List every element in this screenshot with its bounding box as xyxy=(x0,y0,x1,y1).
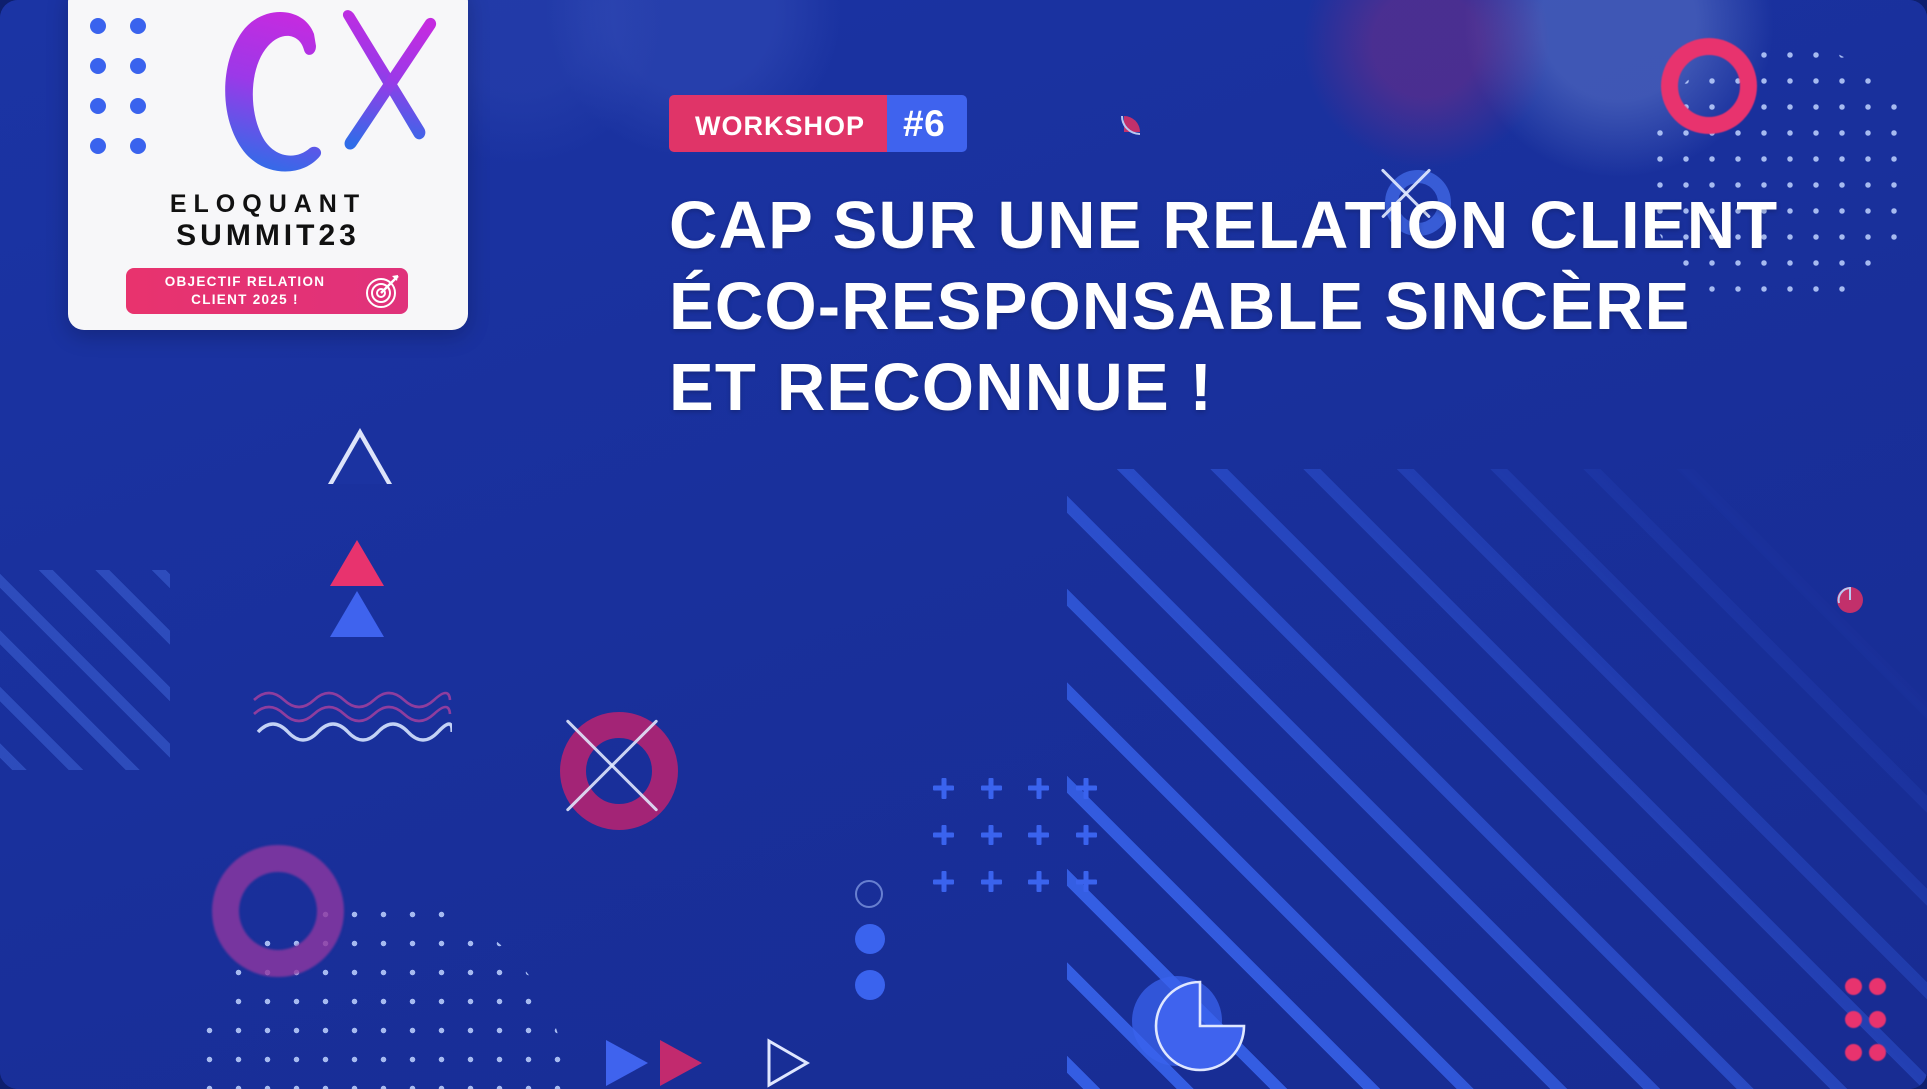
x-cross-icon-center xyxy=(548,700,676,828)
circle-outline-icon xyxy=(855,880,883,908)
title-line-2: ÉCO-RESPONSABLE SINCÈRE xyxy=(669,266,1879,347)
plus-icon xyxy=(968,812,1016,859)
pink-dot-grid-pattern xyxy=(1845,978,1893,1077)
dot-icon xyxy=(1869,1044,1886,1061)
logo-wordmark-line2: SUMMIT23 xyxy=(68,219,468,254)
plus-icon xyxy=(1063,858,1111,905)
target-dart-icon xyxy=(362,271,402,311)
dot-icon xyxy=(90,58,106,74)
diagonal-stripes-left-pattern xyxy=(0,570,170,770)
circle-filled-icon xyxy=(855,924,885,954)
title-line-3: ET RECONNUE ! xyxy=(669,347,1879,428)
dot-icon xyxy=(130,18,146,34)
plus-icon xyxy=(920,858,968,905)
cx-monogram-icon xyxy=(188,0,458,196)
workshop-number: #6 xyxy=(887,95,967,152)
dot-icon xyxy=(90,138,106,154)
slide-title: CAP SUR UNE RELATION CLIENT ÉCO-RESPONSA… xyxy=(669,185,1879,428)
workshop-label: Workshop xyxy=(669,95,887,152)
plus-icon xyxy=(1015,765,1063,812)
logo-tagline-line1: OBJECTIF RELATION xyxy=(138,273,352,291)
dot-icon xyxy=(1845,1011,1862,1028)
circle-column-decoration xyxy=(855,880,891,1016)
dot-icon xyxy=(90,18,106,34)
wavy-lines-icon xyxy=(252,688,452,746)
workshop-accent-icon xyxy=(1120,110,1156,146)
pie-chart-icon xyxy=(1152,978,1248,1074)
plus-icon xyxy=(968,858,1016,905)
dot-icon xyxy=(130,98,146,114)
plus-icon xyxy=(1015,812,1063,859)
logo-wordmark-line1: ELOQUANT xyxy=(68,190,468,219)
triangle-solid-pink-icon xyxy=(330,540,384,586)
plus-icon xyxy=(1063,812,1111,859)
dot-icon xyxy=(1845,978,1862,995)
eloquant-logo-card: ELOQUANT SUMMIT23 OBJECTIF RELATION CLIE… xyxy=(68,0,468,330)
workshop-badge: Workshop #6 xyxy=(669,95,967,152)
triangle-outline-icon xyxy=(328,428,392,484)
crescent-icon xyxy=(1833,583,1867,617)
play-triangle-pink-icon xyxy=(660,1040,702,1086)
logo-tagline-badge: OBJECTIF RELATION CLIENT 2025 ! xyxy=(126,268,408,314)
logo-tagline-text: OBJECTIF RELATION CLIENT 2025 ! xyxy=(138,273,352,309)
dot-icon xyxy=(130,58,146,74)
logo-wordmark: ELOQUANT SUMMIT23 xyxy=(68,190,468,253)
circle-filled-icon xyxy=(855,970,885,1000)
dot-icon xyxy=(1869,1011,1886,1028)
plus-icon xyxy=(920,812,968,859)
dot-icon xyxy=(90,98,106,114)
logo-tagline-line2: CLIENT 2025 ! xyxy=(138,291,352,309)
play-triangle-blue-icon xyxy=(606,1040,648,1086)
logo-dot-grid xyxy=(90,0,170,178)
ring-pink-icon xyxy=(1661,38,1757,134)
dot-icon xyxy=(1869,978,1886,995)
triangle-solid-blue-icon xyxy=(330,591,384,637)
play-triangle-outline-icon xyxy=(765,1037,811,1089)
plus-icon xyxy=(1015,858,1063,905)
plus-grid-pattern xyxy=(920,765,1110,905)
plus-icon xyxy=(1063,765,1111,812)
ring-purple-icon xyxy=(212,845,344,977)
dot-icon xyxy=(130,138,146,154)
presentation-slide: ELOQUANT SUMMIT23 OBJECTIF RELATION CLIE… xyxy=(0,0,1927,1089)
dot-icon xyxy=(1845,1044,1862,1061)
plus-icon xyxy=(968,765,1016,812)
plus-icon xyxy=(920,765,968,812)
title-line-1: CAP SUR UNE RELATION CLIENT xyxy=(669,185,1879,266)
